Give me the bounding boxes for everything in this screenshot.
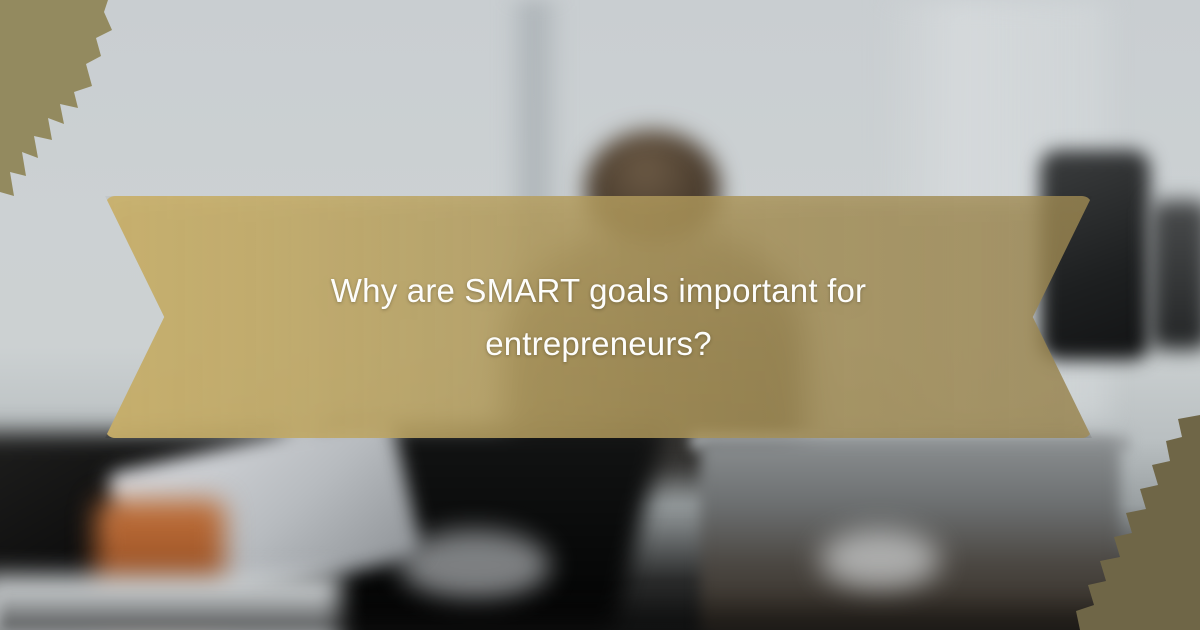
bottom-vignette [0,590,1200,630]
ribbon-banner: Why are SMART goals important for entrep… [105,196,1092,438]
monitor-arm-blur [1150,200,1200,350]
page-title: Why are SMART goals important for entrep… [239,264,959,371]
banner-text-wrap: Why are SMART goals important for entrep… [239,264,959,371]
background-highlight [820,530,940,590]
torn-corner-bottom-right-icon [1070,415,1200,630]
torn-corner-top-left-icon [0,0,180,220]
poster-canvas: Why are SMART goals important for entrep… [0,0,1200,630]
